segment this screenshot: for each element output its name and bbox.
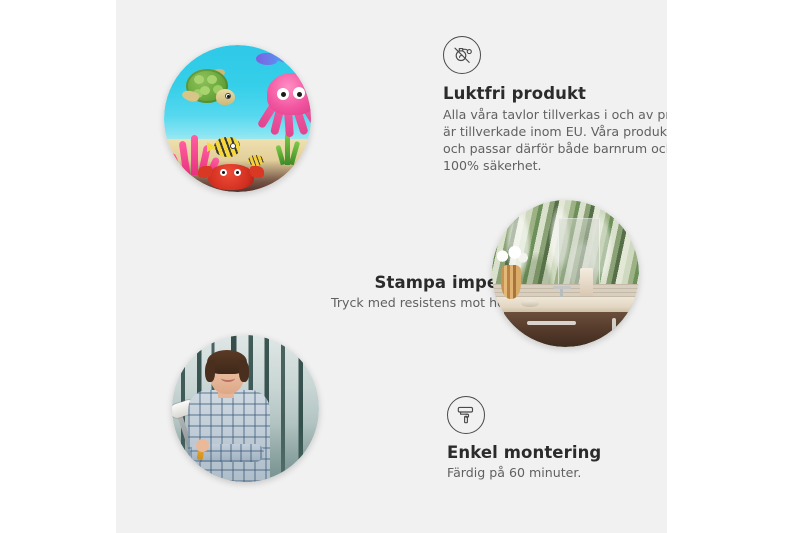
seashell-icon [287, 174, 305, 186]
infographic-panel: Luktfri produkt Alla våra tavlor tillver… [116, 0, 667, 533]
photo-ocean-inner [164, 45, 311, 192]
screenshot-stage: Luktfri produkt Alla våra tavlor tillver… [0, 0, 800, 533]
photo-bathroom-inner [492, 200, 639, 347]
white-flowers [495, 244, 529, 266]
feature-odourless-product: Luktfri produkt Alla våra tavlor tillver… [443, 36, 667, 174]
feature-body: Färdig på 60 minuter. [447, 464, 667, 481]
photo-ocean-kids-mural[interactable] [164, 45, 311, 192]
bathroom-vanity-cabinet [504, 312, 639, 347]
woman-hair [207, 350, 247, 374]
photo-bathroom-botanical-wallpaper[interactable] [492, 200, 639, 347]
blue-fish-icon [256, 53, 278, 65]
feature-body: Alla våra tavlor tillverkas i och av pro… [443, 106, 667, 174]
woman-hand [196, 439, 209, 452]
feature-title: Luktfri produkt [443, 84, 667, 103]
woman-smile [221, 374, 235, 382]
toiletry-bottle [580, 268, 593, 296]
photo-woman-inner [172, 335, 319, 482]
decorative-vase [501, 265, 521, 299]
no-fragrance-icon [443, 36, 481, 74]
feature-title: Enkel montering [447, 443, 667, 462]
crab-icon [208, 164, 254, 190]
paint-roller-icon [447, 396, 485, 434]
photo-woman-paint-roller-forest[interactable] [172, 335, 319, 482]
butterflyfish-icon [214, 137, 240, 157]
woman-plaid-shirt [188, 390, 270, 482]
sea-turtle-icon [180, 67, 236, 111]
feature-easy-installation: Enkel montering Färdig på 60 minuter. [447, 396, 667, 481]
octopus-icon [257, 73, 311, 139]
small-yellow-fish-icon [248, 155, 264, 166]
